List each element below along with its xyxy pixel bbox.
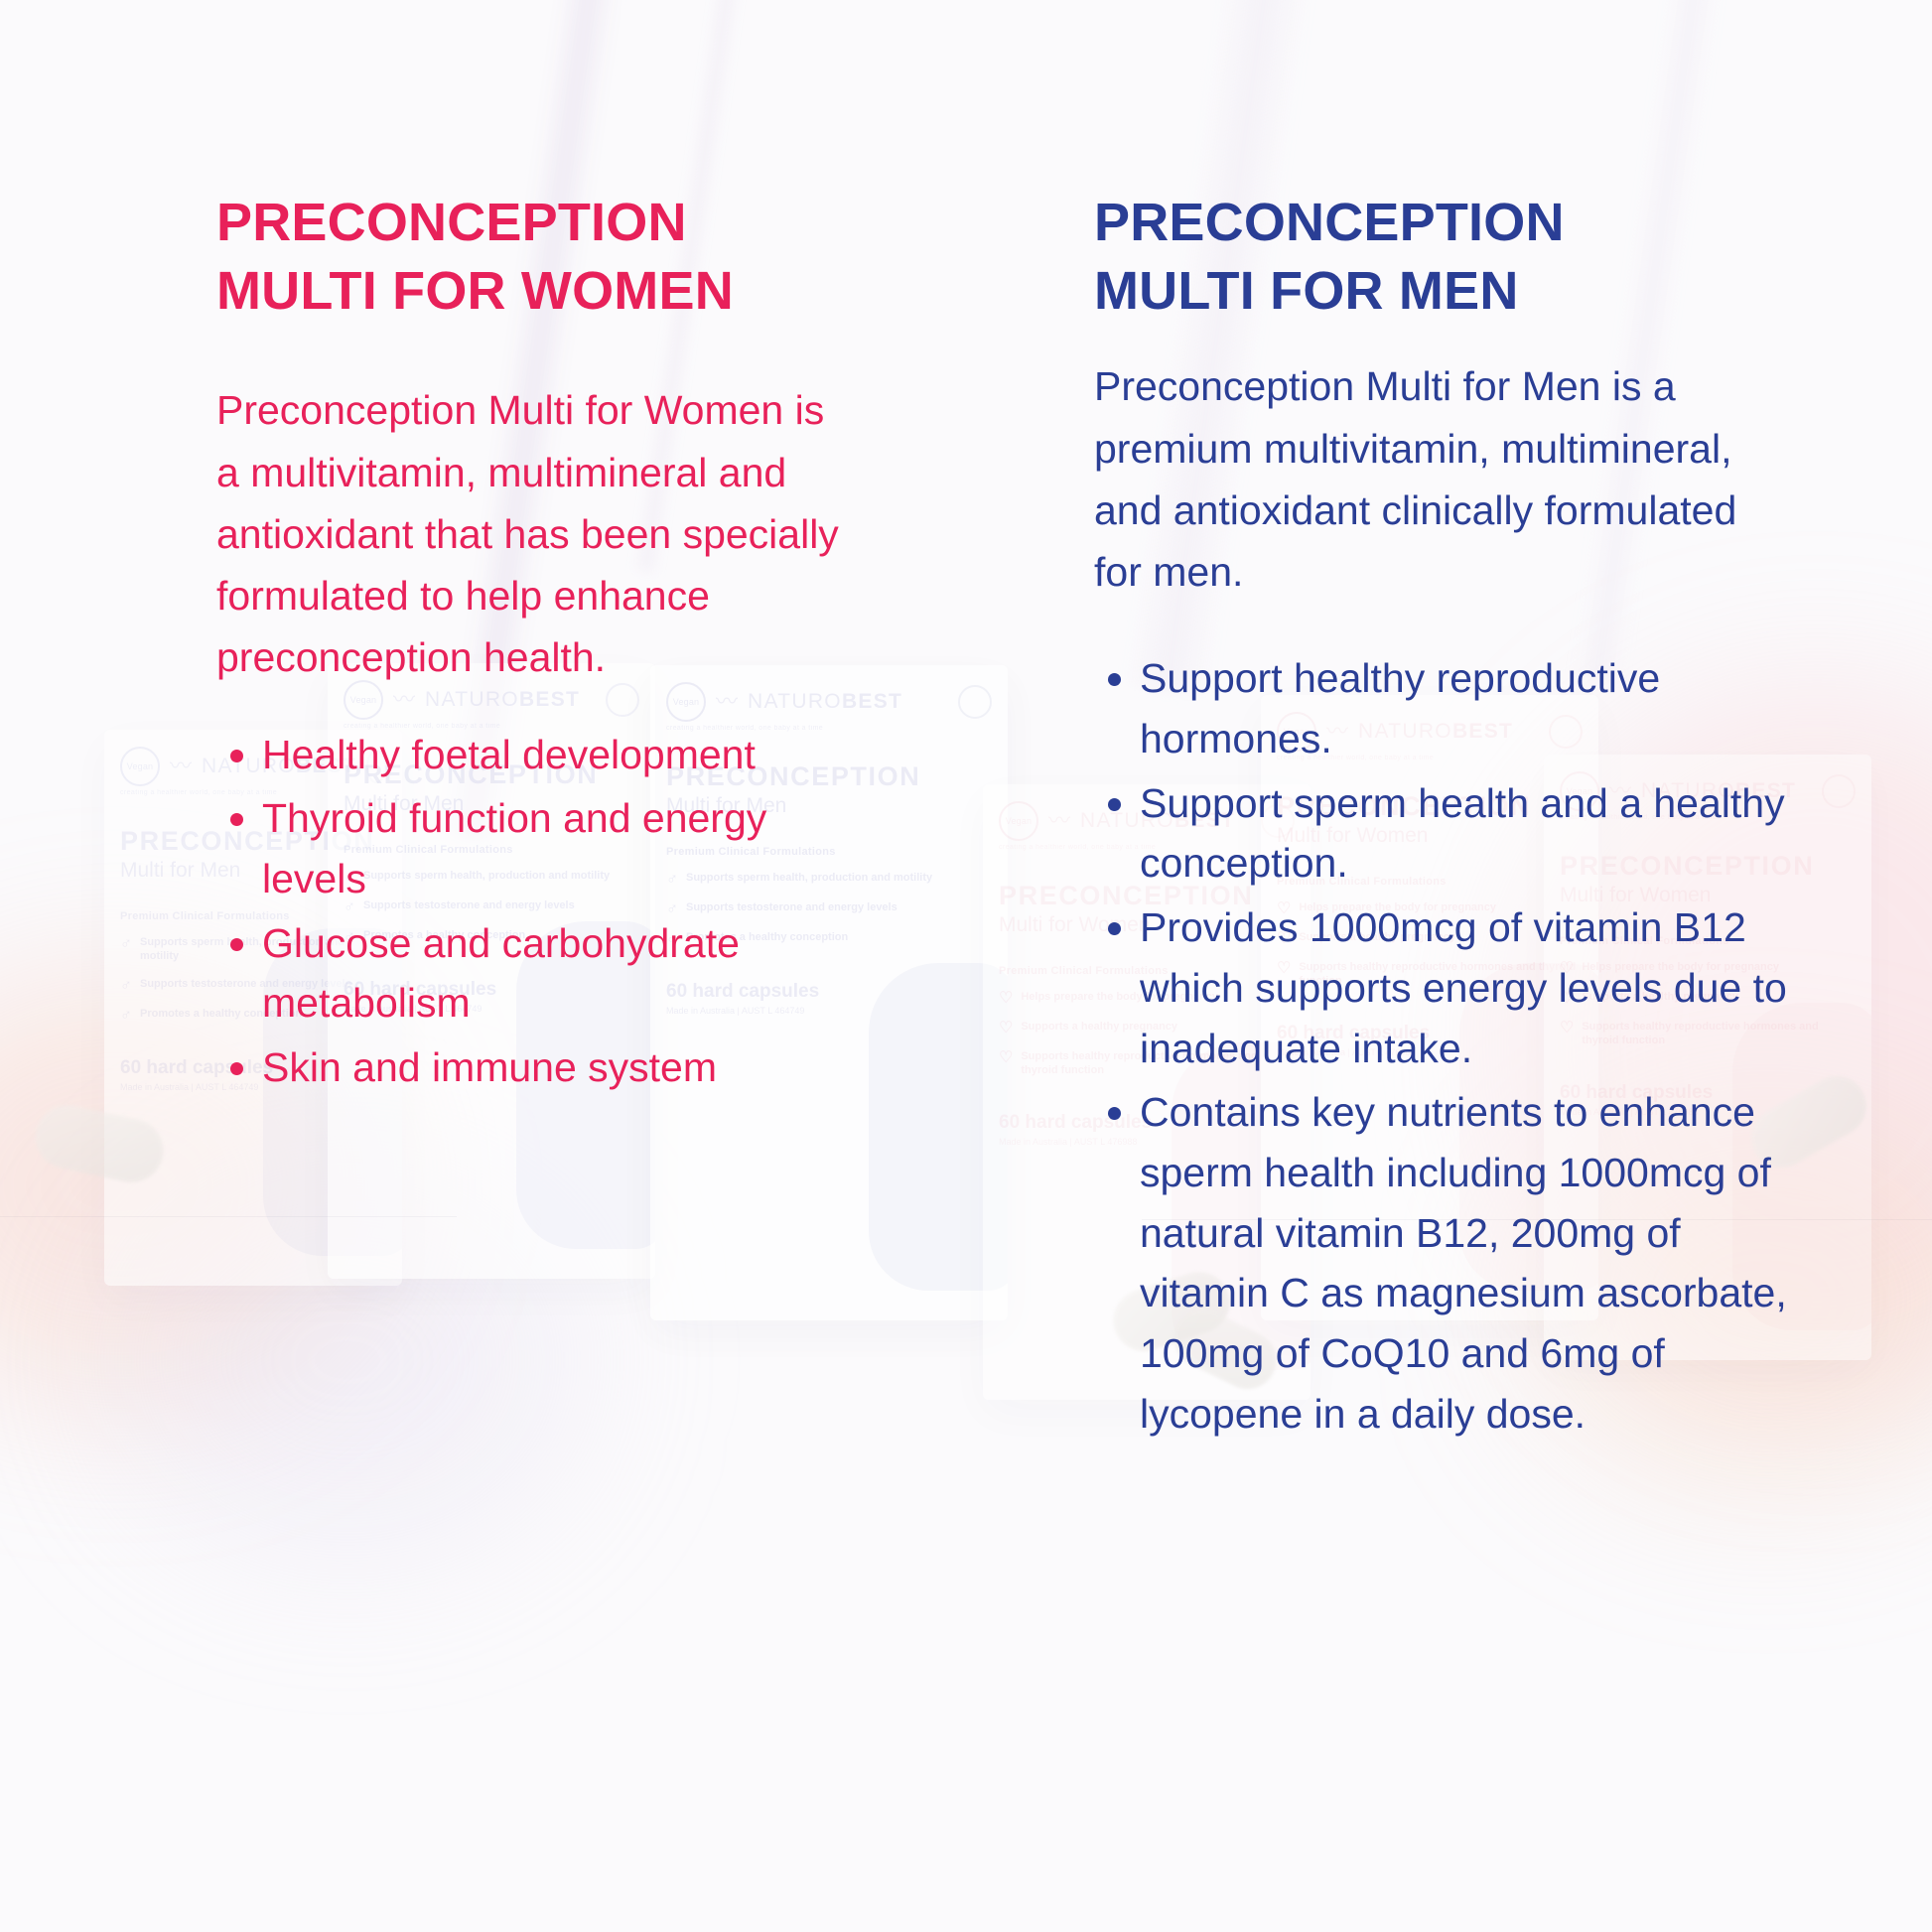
list-item: Support healthy reproductive hormones. — [1094, 648, 1789, 768]
women-product-column: PRECONCEPTION MULTI FOR WOMEN Preconcept… — [216, 189, 852, 1102]
women-benefits-list: Healthy foetal development Thyroid funct… — [216, 725, 852, 1098]
women-page-title: PRECONCEPTION MULTI FOR WOMEN — [216, 189, 852, 326]
men-benefits-list: Support healthy reproductive hormones. S… — [1094, 648, 1789, 1444]
comparison-page: PRECONCEPTION MULTI FOR WOMEN Preconcept… — [0, 0, 1932, 1932]
list-item: Skin and immune system — [216, 1037, 852, 1098]
list-item: Healthy foetal development — [216, 725, 852, 785]
list-item: Contains key nutrients to enhance sperm … — [1094, 1082, 1789, 1444]
women-intro-paragraph: Preconception Multi for Women is a multi… — [216, 379, 852, 689]
men-intro-paragraph: Preconception Multi for Men is a premium… — [1094, 355, 1789, 603]
men-page-title: PRECONCEPTION MULTI FOR MEN — [1094, 189, 1789, 326]
list-item: Support sperm health and a healthy conce… — [1094, 773, 1789, 894]
list-item: Thyroid function and energy levels — [216, 788, 852, 908]
men-product-column: PRECONCEPTION MULTI FOR MEN Preconceptio… — [1094, 189, 1789, 1448]
list-item: Glucose and carbohydrate metabolism — [216, 913, 852, 1034]
list-item: Provides 1000mcg of vitamin B12 which su… — [1094, 897, 1789, 1078]
